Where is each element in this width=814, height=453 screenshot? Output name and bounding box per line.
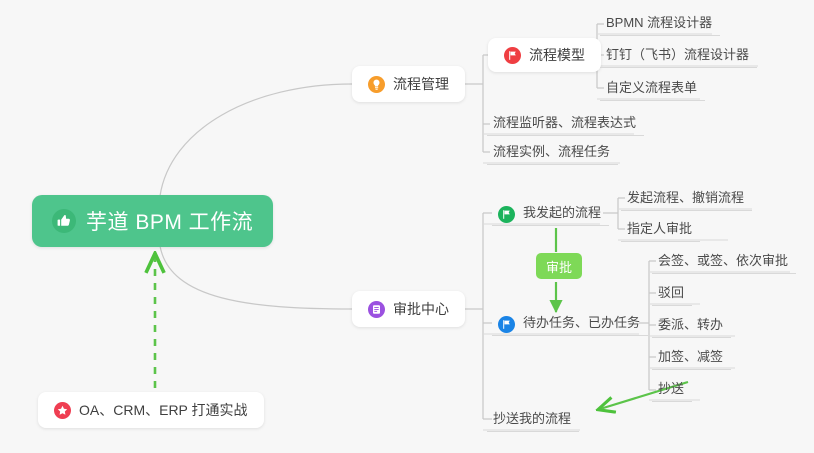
branch-process-management[interactable]: 流程管理: [352, 66, 465, 102]
branch-label: 审批中心: [393, 299, 449, 319]
leaf-label: 发起流程、撤销流程: [627, 191, 744, 208]
leaf-start-cancel-process[interactable]: 发起流程、撤销流程: [621, 183, 752, 211]
leaf-label: 委派、转办: [658, 318, 723, 335]
leaf-process-instance[interactable]: 流程实例、流程任务: [487, 137, 618, 165]
leaf-label: 驳回: [658, 286, 684, 303]
branch-approval-center[interactable]: 审批中心: [352, 291, 465, 327]
annotation-label: 审批: [546, 257, 572, 276]
node-label: OA、CRM、ERP 打通实战: [79, 400, 248, 420]
node-integration-practice[interactable]: OA、CRM、ERP 打通实战: [38, 392, 264, 428]
leaf-label: 抄送我的流程: [493, 412, 571, 429]
leaf-label: 流程实例、流程任务: [493, 145, 610, 162]
node-label: 流程模型: [529, 45, 585, 65]
leaf-custom-form[interactable]: 自定义流程表单: [600, 73, 705, 101]
flag-icon: [498, 206, 515, 223]
star-icon: [54, 402, 71, 419]
link-root-to-process-management: [160, 84, 352, 196]
leaf-reject[interactable]: 驳回: [652, 278, 692, 306]
leaf-bpmn-designer[interactable]: BPMN 流程设计器: [600, 8, 720, 36]
leaf-cc[interactable]: 抄送: [652, 374, 692, 402]
leaf-label: 加签、减签: [658, 350, 723, 367]
branch-label: 流程管理: [393, 74, 449, 94]
mindmap-canvas: 芋道 BPM 工作流 流程管理 流程模型 BPMN 流程设计器 钉钉（飞书）流程…: [0, 0, 814, 453]
link-root-to-approval-center: [160, 246, 352, 309]
leaf-cc-to-me[interactable]: 抄送我的流程: [487, 404, 579, 432]
flag-icon: [504, 47, 521, 64]
thumbs-up-icon: [52, 209, 76, 233]
leaf-process-listener[interactable]: 流程监听器、流程表达式: [487, 108, 644, 136]
leaf-dingtalk-designer[interactable]: 钉钉（飞书）流程设计器: [600, 40, 757, 68]
node-label: 我发起的流程: [523, 206, 601, 223]
leaf-label: BPMN 流程设计器: [606, 16, 712, 33]
leaf-label: 会签、或签、依次审批: [658, 254, 788, 271]
leaf-assigned-approval[interactable]: 指定人审批: [621, 214, 700, 242]
leaf-label: 流程监听器、流程表达式: [493, 116, 636, 133]
leaf-label: 钉钉（飞书）流程设计器: [606, 48, 749, 65]
leaf-label: 自定义流程表单: [606, 81, 697, 98]
root-node[interactable]: 芋道 BPM 工作流: [32, 195, 273, 247]
leaf-countersign[interactable]: 会签、或签、依次审批: [652, 246, 796, 274]
clipboard-icon: [368, 301, 385, 318]
leaf-label: 抄送: [658, 382, 684, 399]
lightbulb-icon: [368, 76, 385, 93]
root-label: 芋道 BPM 工作流: [86, 206, 253, 236]
leaf-add-remove-sign[interactable]: 加签、减签: [652, 342, 731, 370]
flag-icon: [498, 316, 515, 333]
leaf-label: 指定人审批: [627, 222, 692, 239]
node-process-model[interactable]: 流程模型: [488, 38, 601, 72]
node-todo-done-tasks[interactable]: 待办任务、已办任务: [492, 308, 648, 336]
node-my-initiated[interactable]: 我发起的流程: [492, 198, 609, 226]
annotation-approval-tag: 审批: [536, 253, 582, 279]
node-label: 待办任务、已办任务: [523, 316, 640, 333]
leaf-delegate-transfer[interactable]: 委派、转办: [652, 310, 731, 338]
